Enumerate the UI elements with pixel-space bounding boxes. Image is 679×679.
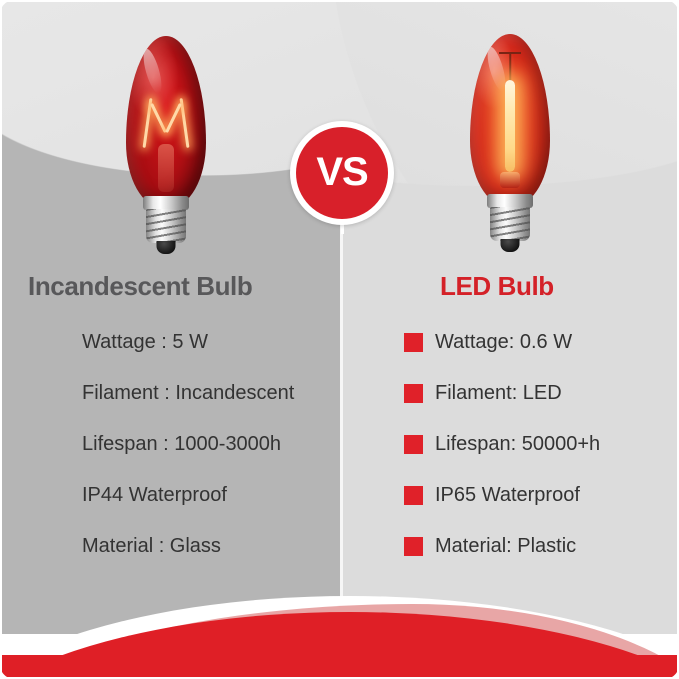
spec-row-wattage: Wattage: 0.6 W: [404, 330, 600, 355]
incandescent-base-screw-thread: [146, 209, 186, 243]
spec-text-waterproof: IP44 Waterproof: [82, 484, 227, 507]
spec-row-material: Material: Plastic: [404, 534, 600, 559]
spec-row-material: Material : Glass: [82, 534, 294, 559]
spec-text-filament: Filament : Incandescent: [82, 382, 294, 405]
heading-incandescent: Incandescent Bulb: [28, 271, 252, 302]
vs-badge-label: VS: [316, 152, 367, 192]
vs-badge-circle: VS: [296, 127, 388, 219]
panel-divider: [340, 224, 343, 624]
spec-list-incandescent: Wattage : 5 W Filament : Incandescent Li…: [82, 330, 294, 585]
red-square-bullet-icon: [404, 486, 423, 505]
led-base-screw-thread: [490, 207, 530, 241]
spec-text-lifespan: Lifespan: 50000+h: [435, 433, 600, 456]
led-bulb-icon: [462, 34, 558, 266]
frame-corner-top-right: [664, 0, 679, 15]
red-square-bullet-icon: [404, 333, 423, 352]
frame-corner-bottom-left: [0, 664, 15, 679]
decorative-wave-red-base: [0, 655, 679, 679]
led-base-collar: [487, 194, 533, 208]
incandescent-glass-highlight: [140, 47, 165, 95]
red-square-bullet-icon: [404, 435, 423, 454]
led-bulb-glass: [470, 34, 550, 206]
led-bulb-base: [487, 194, 533, 252]
spec-row-lifespan: Lifespan : 1000-3000h: [82, 432, 294, 457]
frame-corner-top-left: [0, 0, 15, 15]
spec-text-waterproof: IP65 Waterproof: [435, 484, 580, 507]
heading-led: LED Bulb: [440, 271, 554, 302]
spec-text-material: Material: Plastic: [435, 535, 576, 558]
red-square-bullet-icon: [404, 384, 423, 403]
vs-badge: VS: [290, 121, 394, 225]
spec-text-filament: Filament: LED: [435, 382, 562, 405]
spec-row-wattage: Wattage : 5 W: [82, 330, 294, 355]
infographic-canvas: VS Incandescent Bulb LED Bulb Wattage : …: [0, 0, 679, 679]
red-square-bullet-icon: [404, 537, 423, 556]
spec-row-filament: Filament : Incandescent: [82, 381, 294, 406]
incandescent-bulb-glass: [126, 36, 206, 208]
spec-row-filament: Filament: LED: [404, 381, 600, 406]
frame-corner-bottom-right: [664, 664, 679, 679]
led-filament-mount: [500, 172, 520, 188]
spec-row-waterproof: IP44 Waterproof: [82, 483, 294, 508]
incandescent-base-contact-tip: [157, 241, 176, 254]
incandescent-base-collar: [143, 196, 189, 210]
led-base-contact-tip: [501, 239, 520, 252]
spec-list-led: Wattage: 0.6 W Filament: LED Lifespan: 5…: [404, 330, 600, 585]
spec-text-lifespan: Lifespan : 1000-3000h: [82, 433, 281, 456]
spec-text-wattage: Wattage: 0.6 W: [435, 331, 572, 354]
spec-row-waterproof: IP65 Waterproof: [404, 483, 600, 508]
incandescent-filament-stem: [158, 144, 174, 192]
incandescent-bulb-base: [143, 196, 189, 254]
spec-row-lifespan: Lifespan: 50000+h: [404, 432, 600, 457]
spec-text-wattage: Wattage : 5 W: [82, 331, 208, 354]
led-filament-strip: [505, 80, 515, 172]
incandescent-bulb-icon: [118, 36, 214, 268]
spec-text-material: Material : Glass: [82, 535, 221, 558]
